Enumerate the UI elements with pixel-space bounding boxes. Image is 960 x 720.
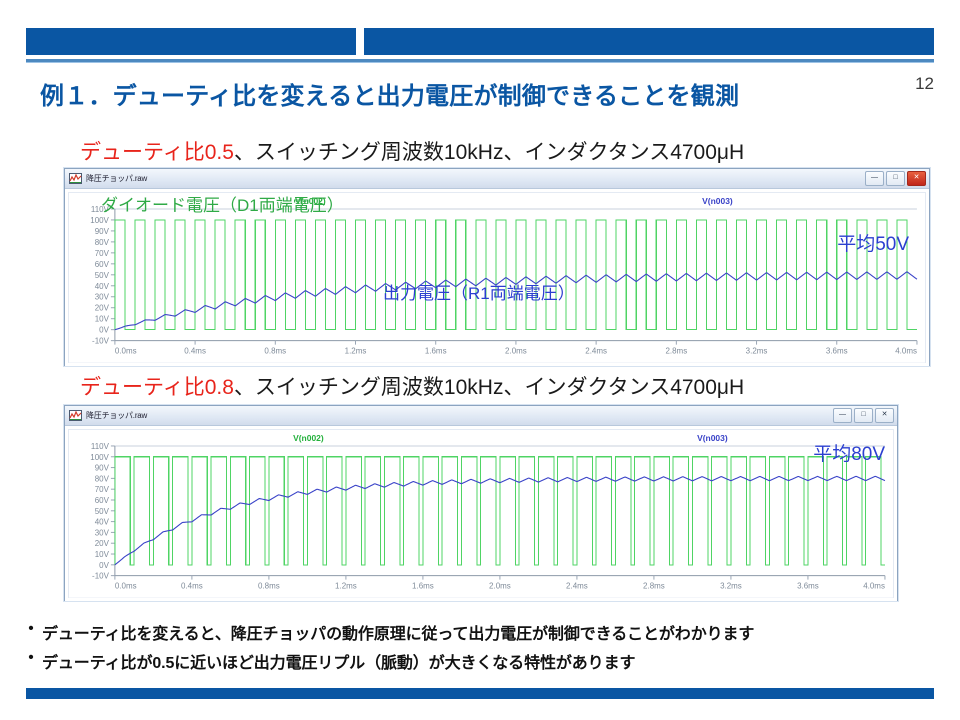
- svg-text:30V: 30V: [95, 528, 110, 537]
- svg-text:2.4ms: 2.4ms: [566, 582, 588, 591]
- window2-plot-area[interactable]: 110V100V90V80V70V60V50V40V30V20V10V0V-10…: [65, 426, 897, 601]
- ltspice-window-duty-05[interactable]: 降圧チョッパ.raw — □ ✕ 110V100V90V80V70V60V50V…: [64, 168, 930, 366]
- svg-text:2.0ms: 2.0ms: [505, 347, 527, 356]
- svg-text:110V: 110V: [91, 442, 110, 451]
- svg-text:80V: 80V: [95, 238, 110, 247]
- window1-controls[interactable]: — □ ✕: [865, 171, 926, 186]
- chart-duty-08: 110V100V90V80V70V60V50V40V30V20V10V0V-10…: [69, 430, 893, 598]
- svg-text:30V: 30V: [95, 293, 110, 302]
- close-button[interactable]: ✕: [875, 408, 894, 423]
- svg-text:20V: 20V: [95, 539, 110, 548]
- svg-text:V(n003): V(n003): [702, 196, 733, 206]
- bullet-text: デューティ比を変えると、降圧チョッパの動作原理に従って出力電圧が制御できることが…: [42, 620, 754, 644]
- svg-text:2.8ms: 2.8ms: [665, 347, 687, 356]
- svg-text:50V: 50V: [95, 507, 110, 516]
- minimize-icon: —: [839, 411, 846, 418]
- maximize-icon: □: [861, 411, 865, 418]
- maximize-button[interactable]: □: [886, 171, 905, 186]
- bullet-marker: •: [20, 620, 42, 637]
- svg-text:V(n002): V(n002): [293, 433, 324, 443]
- slide: 例１．デューティ比を変えると出力電圧が制御できることを観測 12 デューティ比0…: [0, 0, 960, 720]
- header-bar-right: [364, 28, 934, 55]
- svg-text:60V: 60V: [95, 260, 110, 269]
- svg-text:90V: 90V: [95, 464, 110, 473]
- svg-text:40V: 40V: [95, 518, 110, 527]
- maximize-button[interactable]: □: [854, 408, 873, 423]
- svg-text:100V: 100V: [90, 453, 109, 462]
- svg-text:V(n003): V(n003): [697, 433, 728, 443]
- window1-titlebar[interactable]: 降圧チョッパ.raw — □ ✕: [65, 169, 929, 189]
- minimize-button[interactable]: —: [865, 171, 884, 186]
- page-number: 12: [915, 74, 934, 94]
- list-item: • デューティ比が0.5に近いほど出力電圧リプル（脈動）が大きくなる特性がありま…: [20, 649, 950, 673]
- svg-text:0V: 0V: [99, 326, 109, 335]
- svg-text:0.8ms: 0.8ms: [258, 582, 280, 591]
- chart-duty-05: 110V100V90V80V70V60V50V40V30V20V10V0V-10…: [69, 193, 925, 363]
- header-bar-left: [26, 28, 356, 55]
- svg-text:10V: 10V: [95, 550, 110, 559]
- svg-text:1.6ms: 1.6ms: [425, 347, 447, 356]
- svg-text:100V: 100V: [90, 216, 109, 225]
- window2-controls[interactable]: — □ ✕: [833, 408, 894, 423]
- caption-duty-08-rest: 、スイッチング周波数10kHz、インダクタンス4700μH: [234, 376, 744, 399]
- svg-text:0.0ms: 0.0ms: [115, 582, 137, 591]
- window2-plot-canvas: 110V100V90V80V70V60V50V40V30V20V10V0V-10…: [68, 429, 894, 598]
- svg-text:4.0ms: 4.0ms: [863, 582, 885, 591]
- svg-text:0V: 0V: [99, 561, 109, 570]
- close-icon: ✕: [914, 174, 920, 181]
- svg-text:0.0ms: 0.0ms: [115, 347, 137, 356]
- window2-title: 降圧チョッパ.raw: [86, 410, 147, 421]
- ltspice-window-duty-08[interactable]: 降圧チョッパ.raw — □ ✕ 110V100V90V80V70V60V50V…: [64, 405, 898, 601]
- window1-plot-area[interactable]: 110V100V90V80V70V60V50V40V30V20V10V0V-10…: [65, 189, 929, 366]
- list-item: • デューティ比を変えると、降圧チョッパの動作原理に従って出力電圧が制御できるこ…: [20, 620, 950, 644]
- svg-text:2.4ms: 2.4ms: [585, 347, 607, 356]
- svg-text:10V: 10V: [95, 315, 110, 324]
- svg-text:80V: 80V: [95, 474, 110, 483]
- svg-text:-10V: -10V: [92, 572, 110, 581]
- svg-text:-10V: -10V: [92, 337, 110, 346]
- svg-text:1.2ms: 1.2ms: [345, 347, 367, 356]
- svg-text:70V: 70V: [95, 249, 110, 258]
- waveform-icon: [69, 173, 82, 184]
- svg-text:4.0ms: 4.0ms: [895, 347, 917, 356]
- svg-text:90V: 90V: [95, 227, 110, 236]
- svg-text:3.2ms: 3.2ms: [746, 347, 768, 356]
- minimize-button[interactable]: —: [833, 408, 852, 423]
- svg-text:2.0ms: 2.0ms: [489, 582, 511, 591]
- svg-text:20V: 20V: [95, 304, 110, 313]
- svg-text:1.6ms: 1.6ms: [412, 582, 434, 591]
- caption-duty-05-rest: 、スイッチング周波数10kHz、インダクタンス4700μH: [234, 141, 744, 164]
- svg-text:50V: 50V: [95, 271, 110, 280]
- annotation-output-voltage: 出力電圧（R1両端電圧）: [383, 279, 575, 304]
- svg-text:40V: 40V: [95, 282, 110, 291]
- caption-duty-08-red: デューティ比0.8: [80, 376, 234, 399]
- svg-text:3.6ms: 3.6ms: [826, 347, 848, 356]
- svg-text:3.2ms: 3.2ms: [720, 582, 742, 591]
- footer-bar: [26, 688, 934, 699]
- svg-text:70V: 70V: [95, 485, 110, 494]
- bullet-list: • デューティ比を変えると、降圧チョッパの動作原理に従って出力電圧が制御できるこ…: [20, 620, 950, 678]
- header-rule-thin: [26, 62, 934, 63]
- svg-text:60V: 60V: [95, 496, 110, 505]
- bullet-text: デューティ比が0.5に近いほど出力電圧リプル（脈動）が大きくなる特性があります: [42, 649, 635, 673]
- close-icon: ✕: [882, 411, 888, 418]
- waveform-icon: [69, 410, 82, 421]
- caption-duty-05: デューティ比0.5、スイッチング周波数10kHz、インダクタンス4700μH: [80, 136, 744, 166]
- bullet-marker: •: [20, 649, 42, 666]
- caption-duty-05-red: デューティ比0.5: [80, 141, 234, 164]
- svg-text:0.8ms: 0.8ms: [264, 347, 286, 356]
- header-bar-gap: [356, 28, 364, 55]
- close-button[interactable]: ✕: [907, 171, 926, 186]
- annotation-average-80v: 平均80V: [813, 439, 885, 466]
- svg-text:0.4ms: 0.4ms: [181, 582, 203, 591]
- svg-text:2.8ms: 2.8ms: [643, 582, 665, 591]
- header-decoration-bars: [26, 28, 934, 55]
- svg-text:0.4ms: 0.4ms: [184, 347, 206, 356]
- minimize-icon: —: [871, 174, 878, 181]
- maximize-icon: □: [893, 174, 897, 181]
- window1-title: 降圧チョッパ.raw: [86, 173, 147, 184]
- page-title: 例１．デューティ比を変えると出力電圧が制御できることを観測: [40, 76, 870, 111]
- svg-text:1.2ms: 1.2ms: [335, 582, 357, 591]
- annotation-diode-voltage: ダイオード電圧（D1両端電圧）: [101, 191, 344, 216]
- window1-plot-canvas: 110V100V90V80V70V60V50V40V30V20V10V0V-10…: [68, 192, 926, 363]
- annotation-average-50v: 平均50V: [837, 229, 909, 256]
- window2-titlebar[interactable]: 降圧チョッパ.raw — □ ✕: [65, 406, 897, 426]
- svg-text:3.6ms: 3.6ms: [797, 582, 819, 591]
- caption-duty-08: デューティ比0.8、スイッチング周波数10kHz、インダクタンス4700μH: [80, 371, 744, 401]
